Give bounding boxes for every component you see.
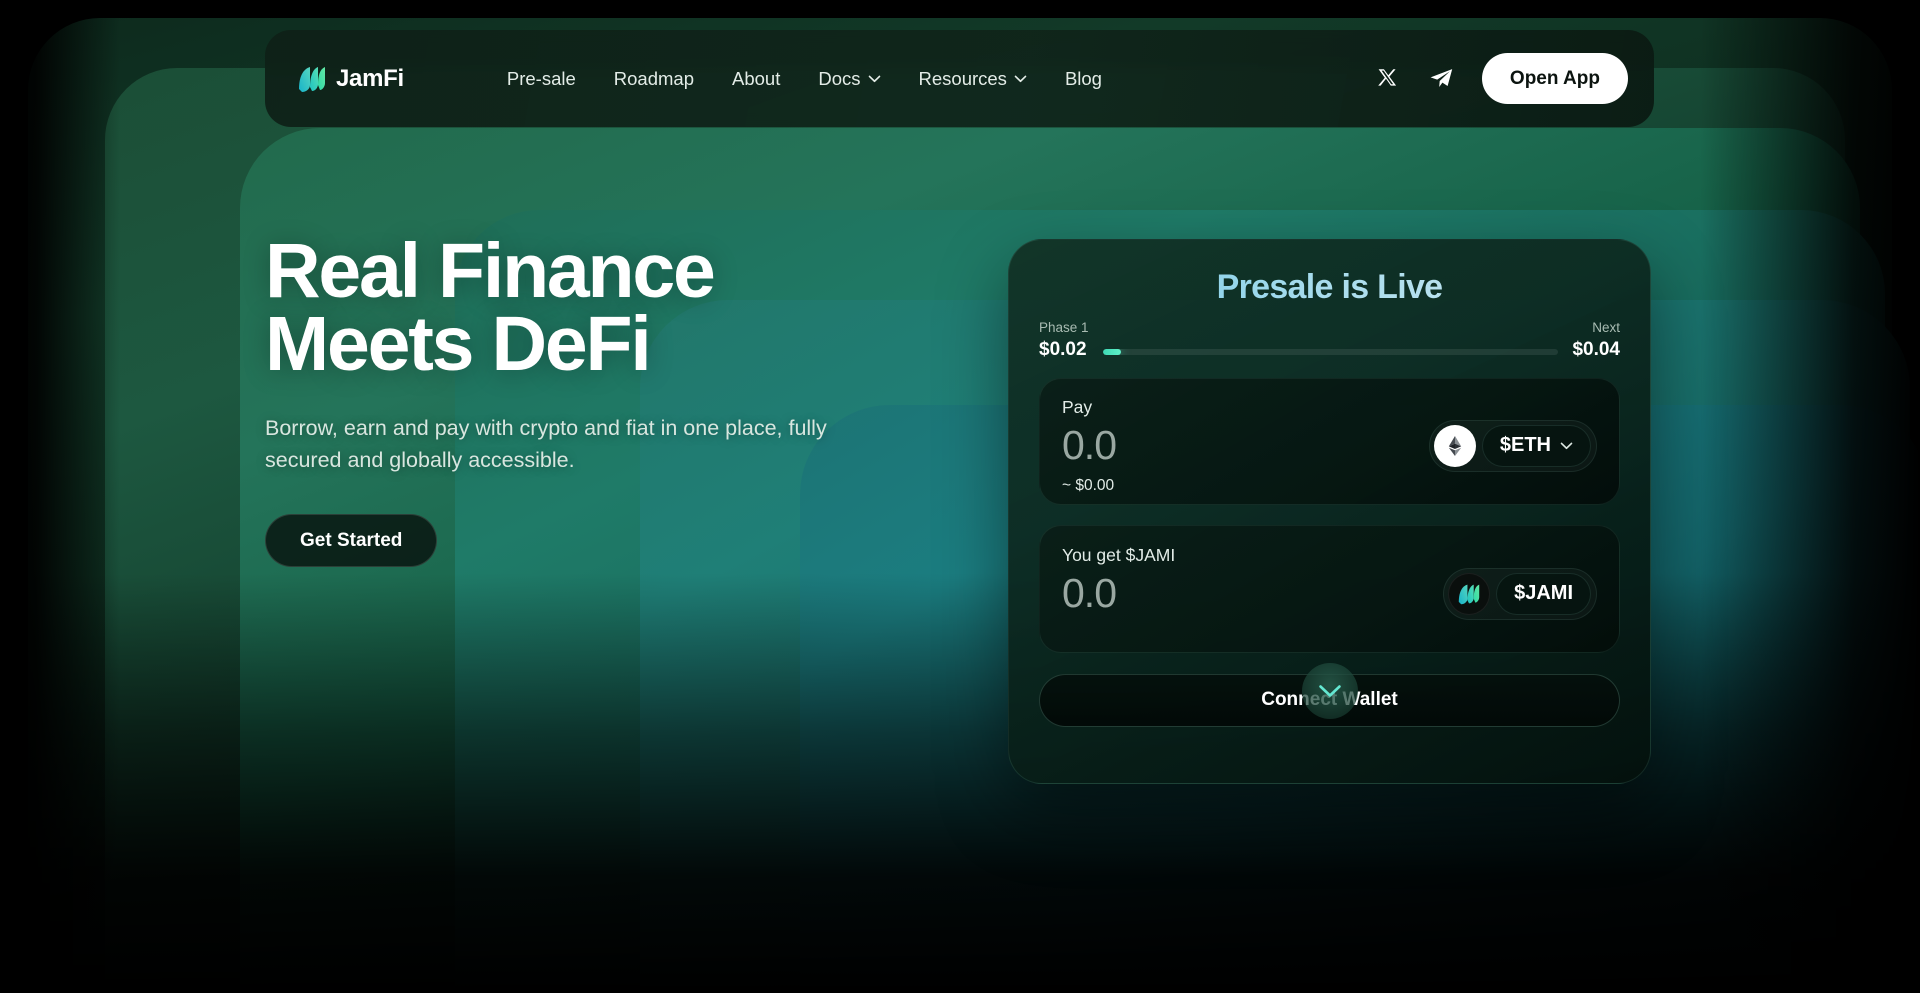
nav-item-roadmap[interactable]: Roadmap: [614, 68, 694, 90]
receive-section: You get $JAMI 0.0 $JAMI: [1039, 525, 1620, 653]
ethereum-icon: [1434, 425, 1476, 467]
nav-item-label: Resources: [919, 68, 1007, 90]
next-price: $0.04: [1572, 339, 1620, 362]
hero-section: Real Finance Meets DeFi Borrow, earn and…: [265, 235, 865, 567]
receive-token-selector[interactable]: $JAMI: [1443, 568, 1597, 620]
chevron-down-icon: [1014, 75, 1027, 83]
nav-item-label: About: [732, 68, 780, 90]
chevron-down-icon: [1318, 684, 1342, 699]
jami-token-icon: [1448, 573, 1490, 615]
progress-bar-fill: [1103, 349, 1121, 355]
phase-label: Phase 1: [1039, 320, 1089, 337]
background-left-fade: [0, 0, 120, 993]
page-root: JamFi Pre-sale Roadmap About Docs Resour…: [0, 0, 1920, 993]
pay-token-selector[interactable]: $ETH: [1429, 420, 1597, 472]
navbar: JamFi Pre-sale Roadmap About Docs Resour…: [265, 30, 1654, 127]
nav-item-blog[interactable]: Blog: [1065, 68, 1102, 90]
brand-name: JamFi: [336, 65, 404, 93]
receive-token-label: $JAMI: [1514, 582, 1573, 605]
background-right-fade: [1700, 0, 1920, 993]
presale-card: Presale is Live Phase 1 $0.02 Next $0.04…: [1008, 239, 1651, 784]
nav-item-label: Pre-sale: [507, 68, 576, 90]
presale-title: Presale is Live: [1039, 268, 1620, 307]
nav-item-label: Roadmap: [614, 68, 694, 90]
pay-label: Pay: [1062, 397, 1597, 418]
phase-next: Next $0.04: [1572, 320, 1620, 362]
pay-amount-input[interactable]: 0.0: [1062, 424, 1116, 467]
pay-fiat-value: ~ $0.00: [1062, 477, 1597, 495]
phase-price: $0.02: [1039, 339, 1089, 362]
jamfi-logo-icon: [297, 65, 327, 93]
get-started-button[interactable]: Get Started: [265, 514, 437, 567]
next-label: Next: [1592, 320, 1620, 337]
nav-item-label: Docs: [818, 68, 860, 90]
x-twitter-icon[interactable]: [1374, 65, 1402, 93]
chevron-down-icon: [868, 75, 881, 83]
nav-item-label: Blog: [1065, 68, 1102, 90]
pay-token-button[interactable]: $ETH: [1482, 425, 1591, 467]
brand-logo[interactable]: JamFi: [297, 65, 404, 93]
receive-amount-output: 0.0: [1062, 572, 1116, 615]
pay-row: 0.0 $ETH: [1062, 420, 1597, 472]
hero-title-line2: Meets DeFi: [265, 301, 650, 387]
nav-item-about[interactable]: About: [732, 68, 780, 90]
nav-right-group: Open App: [1374, 53, 1628, 104]
progress-bar: [1103, 349, 1559, 355]
pay-section: Pay 0.0 $ETH: [1039, 378, 1620, 505]
presale-progress-row: Phase 1 $0.02 Next $0.04: [1039, 320, 1620, 362]
nav-item-resources[interactable]: Resources: [919, 68, 1027, 90]
receive-row: 0.0 $JAMI: [1062, 568, 1597, 620]
open-app-button[interactable]: Open App: [1482, 53, 1628, 104]
hero-subtitle: Borrow, earn and pay with crypto and fia…: [265, 413, 830, 476]
chevron-down-icon: [1560, 442, 1573, 450]
telegram-icon[interactable]: [1428, 65, 1456, 93]
phase-current: Phase 1 $0.02: [1039, 320, 1089, 362]
nav-links: Pre-sale Roadmap About Docs Resources: [507, 68, 1102, 90]
nav-item-docs[interactable]: Docs: [818, 68, 880, 90]
hero-title: Real Finance Meets DeFi: [265, 235, 865, 381]
receive-label: You get $JAMI: [1062, 545, 1597, 566]
receive-token-button[interactable]: $JAMI: [1496, 573, 1591, 615]
nav-item-presale[interactable]: Pre-sale: [507, 68, 576, 90]
pay-token-label: $ETH: [1500, 434, 1551, 457]
swap-direction-button[interactable]: [1302, 663, 1358, 719]
